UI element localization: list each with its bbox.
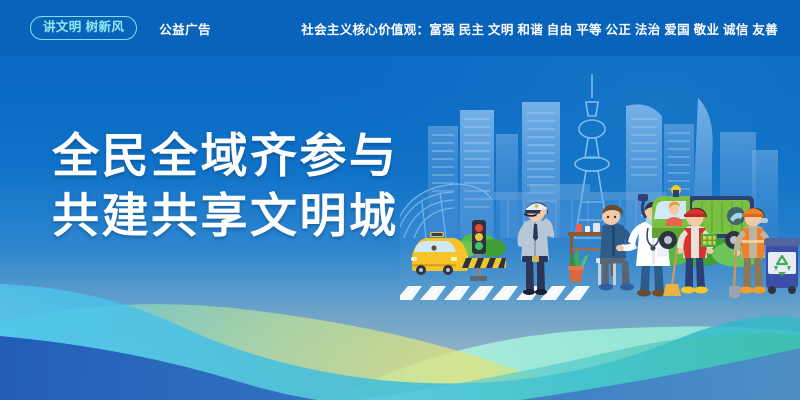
core-socialist-values-text: 社会主义核心价值观：富强 民主 文明 和谐 自由 平等 公正 法治 爱国 敬业 … — [211, 19, 782, 38]
decorative-wave-band — [0, 270, 800, 400]
public-service-poster: 讲文明 树新风 公益广告 社会主义核心价值观：富强 民主 文明 和谐 自由 平等… — [0, 0, 800, 400]
headline-line-2: 共建共享文明城 — [52, 186, 399, 246]
slogan-badge: 讲文明 树新风 — [30, 16, 137, 40]
civic-scene-illustration — [400, 72, 800, 300]
headline-block: 全民全域齐参与 共建共享文明城 — [52, 126, 399, 246]
kerb-stripe — [462, 258, 506, 268]
public-service-ad-label: 公益广告 — [159, 19, 211, 38]
poster-header-bar: 讲文明 树新风 公益广告 社会主义核心价值观：富强 民主 文明 和谐 自由 平等… — [0, 0, 800, 56]
headline-line-1: 全民全域齐参与 — [52, 126, 399, 186]
